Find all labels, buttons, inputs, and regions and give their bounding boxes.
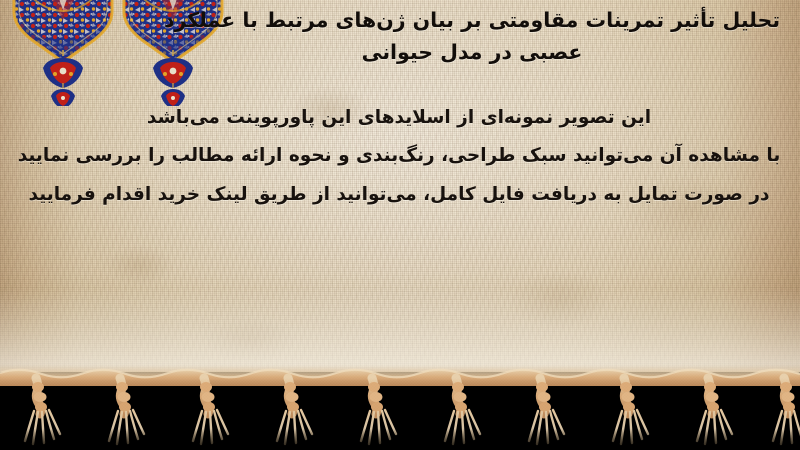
slide-title: تحلیل تأثیر تمرینات مقاومتی بر بیان ژن‌ه…: [162, 4, 782, 69]
medallion-drop-small: [161, 83, 185, 106]
body-line-3: در صورت تمایل به دریافت فایل کامل، می‌تو…: [8, 185, 790, 204]
persian-medallion-ornament-left: [8, 0, 118, 110]
medallion-drop-large: [43, 50, 83, 88]
tassel: [25, 378, 800, 444]
carpet-fringe-tassels: [0, 364, 800, 450]
medallion-left-svg: [8, 0, 118, 106]
presentation-slide: تحلیل تأثیر تمرینات مقاومتی بر بیان ژن‌ه…: [0, 0, 800, 450]
slide-title-line-1: تحلیل تأثیر تمرینات مقاومتی بر بیان ژن‌ه…: [164, 8, 780, 32]
slide-title-line-2: عصبی در مدل حیوانی: [362, 40, 583, 64]
body-line-2: با مشاهده آن می‌توانید سبک طراحی، رنگ‌بن…: [8, 146, 790, 165]
slide-body: این تصویر نمونه‌ای از اسلایدهای این پاور…: [8, 108, 790, 204]
body-line-1: این تصویر نمونه‌ای از اسلایدهای این پاور…: [8, 108, 790, 127]
medallion-drop-small: [51, 83, 75, 106]
